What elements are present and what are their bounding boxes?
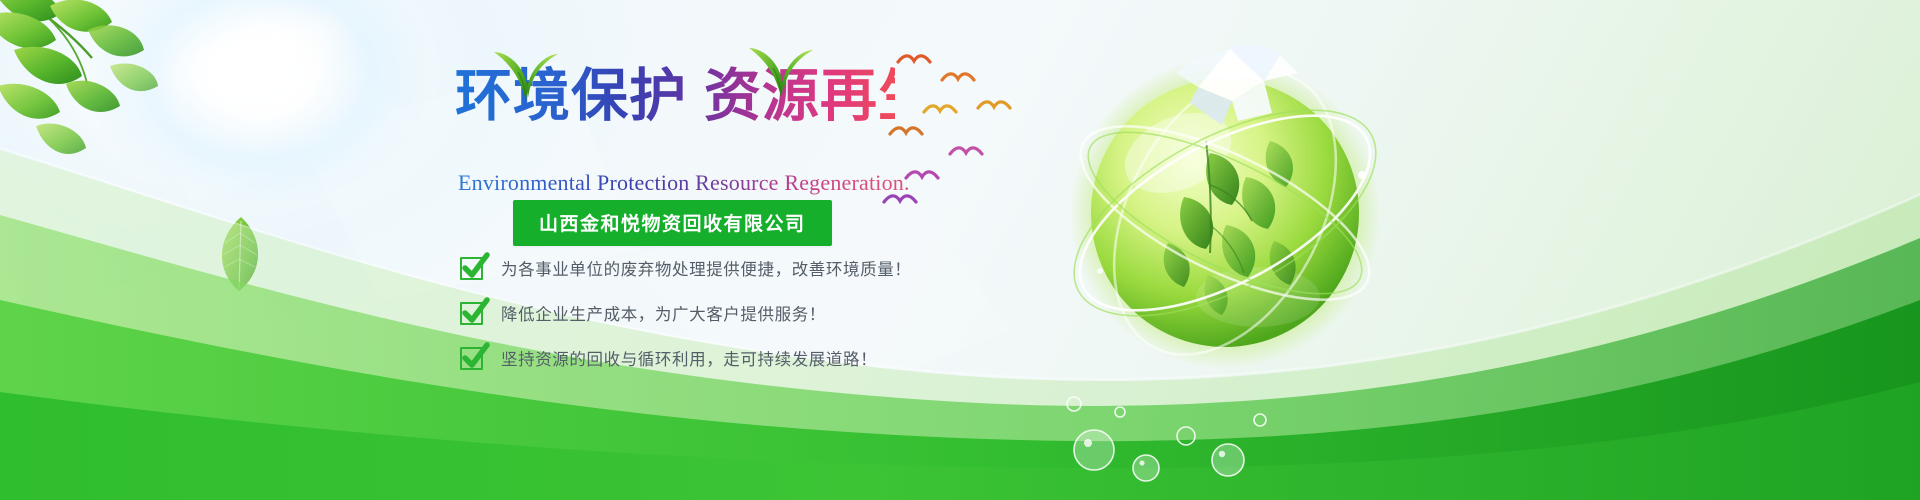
list-item: 坚持资源的回收与循环利用，走可持续发展道路！ — [460, 340, 1080, 376]
headline-block: 环境保护 资源再生 — [455, 60, 895, 150]
banner-content: 环境保护 资源再生 Environmental Protection Resou… — [0, 0, 1100, 500]
list-item: 为各事业单位的废弃物处理提供便捷，改善环境质量！ — [460, 250, 1080, 286]
list-item-label: 坚持资源的回收与循环利用，走可持续发展道路！ — [501, 346, 877, 370]
list-item: 降低企业生产成本，为广大客户提供服务！ — [460, 295, 1080, 331]
subtitle: Environmental Protection Resource Regene… — [458, 170, 978, 196]
list-item-label: 为各事业单位的废弃物处理提供便捷，改善环境质量！ — [501, 256, 911, 280]
page-title: 环境保护 资源再生 — [455, 60, 895, 132]
feature-list: 为各事业单位的废弃物处理提供便捷，改善环境质量！ 降低企业生产成本，为广大客户提… — [460, 250, 1080, 385]
list-item-label: 降低企业生产成本，为广大客户提供服务！ — [501, 301, 826, 325]
checkmark-icon — [460, 347, 483, 370]
eco-globe-icon — [1060, 45, 1390, 375]
checkmark-icon — [460, 257, 483, 280]
eco-recycling-banner: 环境保护 资源再生 Environmental Protection Resou… — [0, 0, 1920, 500]
checkmark-icon — [460, 302, 483, 325]
company-name-button[interactable]: 山西金和悦物资回收有限公司 — [513, 200, 832, 246]
